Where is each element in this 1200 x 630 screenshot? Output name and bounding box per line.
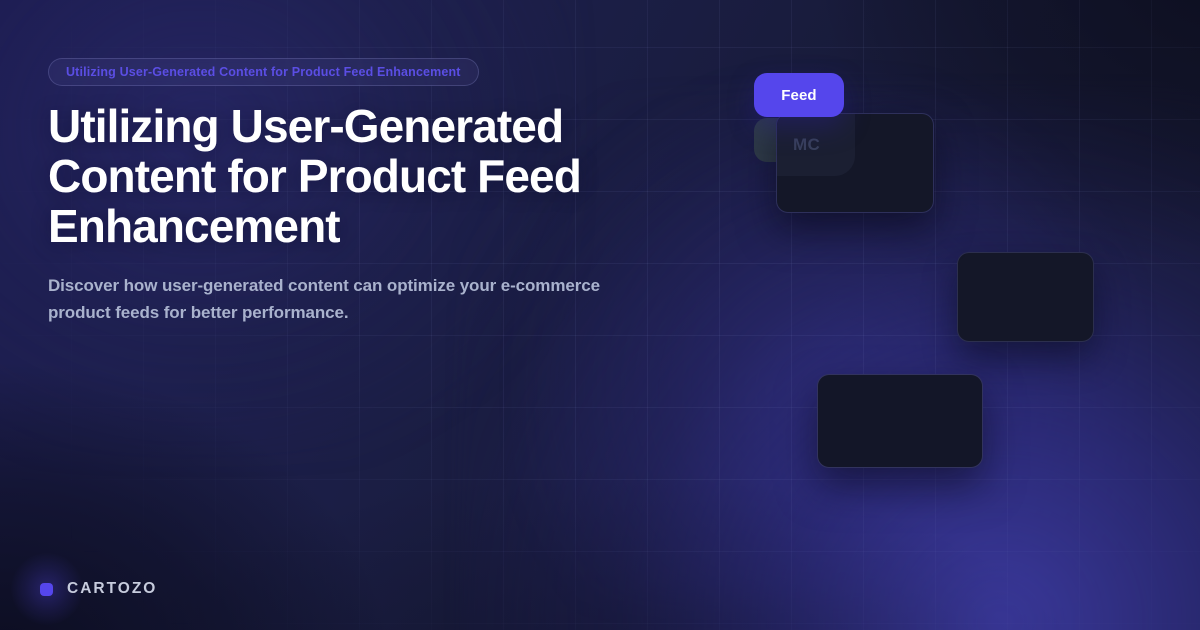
brand-logo: CARTOZO (40, 580, 157, 598)
eyebrow-badge-label: Utilizing User-Generated Content for Pro… (66, 65, 461, 79)
brand-name: CARTOZO (67, 580, 157, 598)
page-subtitle: Discover how user-generated content can … (48, 272, 608, 326)
hero-content: Utilizing User-Generated Content for Pro… (0, 0, 1200, 630)
page-title: Utilizing User-Generated Content for Pro… (48, 101, 648, 251)
og-hero-card: MC Feed Utilizing User-Generated Content… (0, 0, 1200, 630)
logo-mark-icon (40, 583, 53, 596)
eyebrow-badge: Utilizing User-Generated Content for Pro… (48, 58, 479, 86)
